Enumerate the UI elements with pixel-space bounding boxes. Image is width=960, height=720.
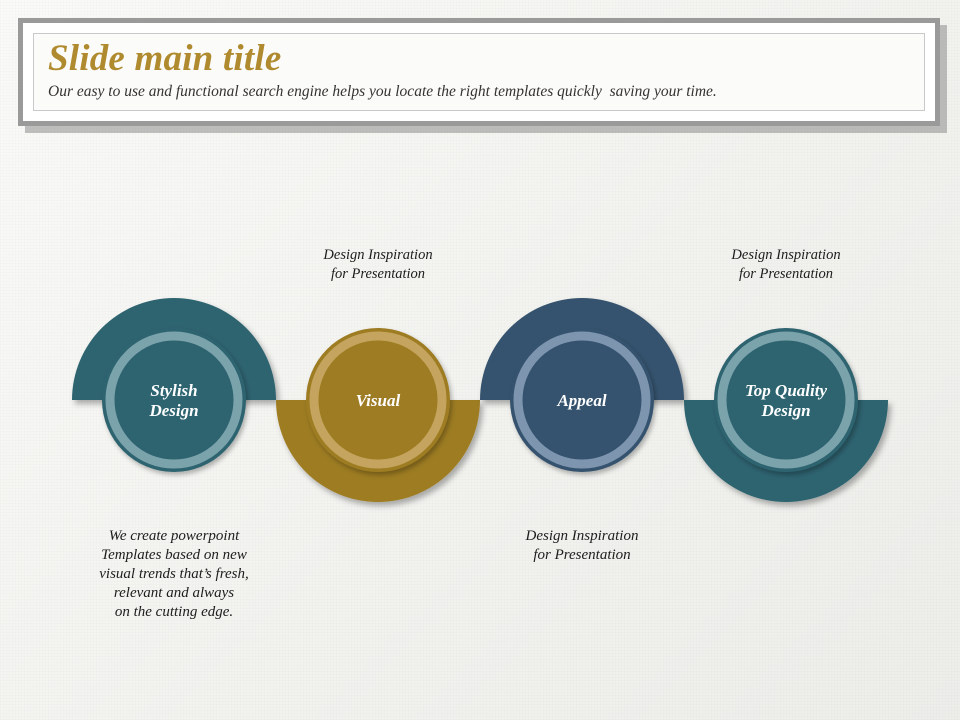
slide-header-frame: Slide main title Our easy to use and fun… bbox=[18, 18, 940, 126]
node-label-node-3: Appeal bbox=[556, 391, 606, 410]
caption-node-4: Design Inspirationfor Presentation bbox=[730, 247, 840, 282]
node-label-line: Visual bbox=[356, 391, 401, 410]
caption-node-2: Design Inspirationfor Presentation bbox=[322, 247, 432, 282]
caption-line: on the cutting edge. bbox=[115, 604, 233, 620]
node-circle-node-1[interactable] bbox=[102, 328, 246, 472]
node-label-line: Stylish bbox=[150, 381, 197, 400]
caption-node-1: We create powerpointTemplates based on n… bbox=[99, 528, 248, 620]
caption-line: for Presentation bbox=[533, 547, 630, 563]
slide-header-inner: Slide main title Our easy to use and fun… bbox=[33, 33, 925, 111]
caption-line: We create powerpoint bbox=[109, 528, 240, 544]
caption-line: for Presentation bbox=[739, 266, 833, 282]
caption-node-3: Design Inspirationfor Presentation bbox=[525, 528, 639, 563]
node-label-line: Top Quality bbox=[745, 381, 827, 400]
page-title: Slide main title bbox=[48, 37, 910, 81]
caption-line: Design Inspiration bbox=[525, 528, 639, 544]
node-inner-disc bbox=[116, 342, 232, 458]
node-label-line: Design bbox=[148, 401, 198, 420]
caption-line: for Presentation bbox=[331, 266, 425, 282]
node-inner-disc bbox=[728, 342, 844, 458]
caption-line: Design Inspiration bbox=[322, 247, 432, 263]
caption-line: relevant and always bbox=[114, 585, 234, 601]
diagram-canvas: StylishDesignVisualAppealTop QualityDesi… bbox=[0, 150, 960, 620]
node-label-line: Appeal bbox=[556, 391, 606, 410]
node-label-node-2: Visual bbox=[356, 391, 401, 410]
caption-line: visual trends that’s fresh, bbox=[99, 566, 248, 582]
wave-process-diagram: StylishDesignVisualAppealTop QualityDesi… bbox=[0, 150, 960, 620]
caption-line: Design Inspiration bbox=[730, 247, 840, 263]
node-label-line: Design bbox=[760, 401, 810, 420]
node-label-node-1: StylishDesign bbox=[148, 381, 198, 420]
slide-subtitle: Our easy to use and functional search en… bbox=[48, 82, 910, 101]
caption-line: Templates based on new bbox=[101, 547, 247, 563]
node-circle-node-4[interactable] bbox=[714, 328, 858, 472]
